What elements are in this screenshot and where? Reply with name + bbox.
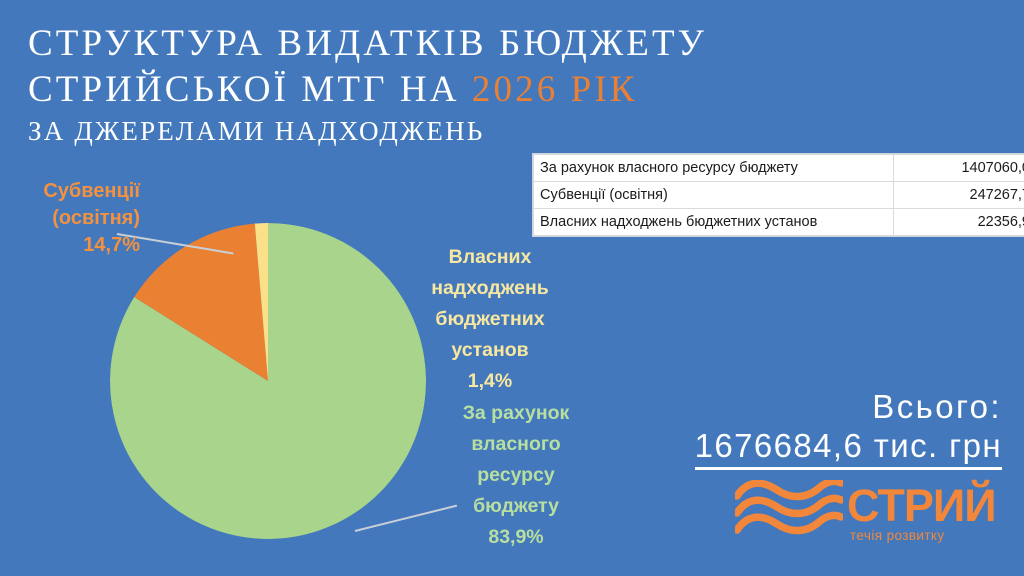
total-label: Всього: xyxy=(695,388,1002,426)
budget-source-table: За рахунок власного ресурсу бюджету 1407… xyxy=(533,154,1024,236)
pie-label-own-resource-name-3: ресурсу xyxy=(477,464,555,486)
pie-label-subvention-percent: 14,7% xyxy=(83,234,140,256)
pie-label-institutions-percent: 1,4% xyxy=(468,370,512,392)
pie-chart-svg xyxy=(110,223,426,539)
table-cell-label: Субвенції (освітня) xyxy=(534,182,894,209)
pie-label-institutions-name-1: Власних xyxy=(449,246,532,268)
pie-label-institutions-name-4: установ xyxy=(451,339,528,361)
wave-icon xyxy=(735,480,843,542)
table-body: За рахунок власного ресурсу бюджету 1407… xyxy=(534,155,1024,236)
slide-canvas: СТРУКТУРА ВИДАТКІВ БЮДЖЕТУ СТРИЙСЬКОЇ МТ… xyxy=(0,0,1024,576)
logo-wordmark: СТРИЙ xyxy=(847,481,996,531)
pie-label-own-resource-name-1: За рахунок xyxy=(463,402,570,424)
pie-label-own-resource-percent: 83,9% xyxy=(488,526,543,548)
table-cell-label: За рахунок власного ресурсу бюджету xyxy=(534,155,894,182)
title-line-1: СТРУКТУРА ВИДАТКІВ БЮДЖЕТУ xyxy=(28,22,908,66)
pie-label-subvention-text: Субвенції (освітня) 14,7% xyxy=(0,178,140,259)
pie-label-own-resource-name-2: власного xyxy=(471,433,560,455)
total-value: 1676684,6 тис. грн xyxy=(695,426,1002,470)
page-title: СТРУКТУРА ВИДАТКІВ БЮДЖЕТУ СТРИЙСЬКОЇ МТ… xyxy=(28,22,908,147)
table-cell-value: 247267,7 xyxy=(894,182,1024,209)
total-block: Всього: 1676684,6 тис. грн xyxy=(695,388,1002,470)
logo-tagline: течія розвитку xyxy=(850,528,945,543)
pie-chart xyxy=(110,223,426,539)
title-line-2-prefix: СТРИЙСЬКОЇ МТГ НА xyxy=(28,69,472,110)
table-row: За рахунок власного ресурсу бюджету 1407… xyxy=(534,155,1024,182)
city-logo: СТРИЙ течія розвитку xyxy=(735,478,1010,560)
pie-label-own-resource-name-4: бюджету xyxy=(473,495,559,517)
pie-label-institutions-name-2: надходжень xyxy=(431,277,549,299)
title-subtitle: ЗА ДЖЕРЕЛАМИ НАДХОДЖЕНЬ xyxy=(28,115,908,147)
pie-label-subvention-name-2: (освітня) xyxy=(52,207,140,229)
table-row: Субвенції (освітня) 247267,7 xyxy=(534,182,1024,209)
pie-label-own-resource: За рахунок власного ресурсу бюджету 83,9… xyxy=(430,398,602,553)
pie-label-subvention-name-1: Субвенції xyxy=(43,180,140,202)
title-year-accent: 2026 РІК xyxy=(472,69,638,110)
pie-label-institutions: Власних надходжень бюджетних установ 1,4… xyxy=(404,242,576,397)
table-cell-label: Власних надходжень бюджетних установ xyxy=(534,209,894,236)
pie-label-subvention: Субвенції (освітня) Субвенції (освітня) … xyxy=(0,178,140,259)
title-line-2: СТРИЙСЬКОЇ МТГ НА 2026 РІК xyxy=(28,68,908,112)
table-cell-value: 22356,9 xyxy=(894,209,1024,236)
table-cell-value: 1407060,0 xyxy=(894,155,1024,182)
pie-label-institutions-name-3: бюджетних xyxy=(435,308,544,330)
table-row: Власних надходжень бюджетних установ 223… xyxy=(534,209,1024,236)
